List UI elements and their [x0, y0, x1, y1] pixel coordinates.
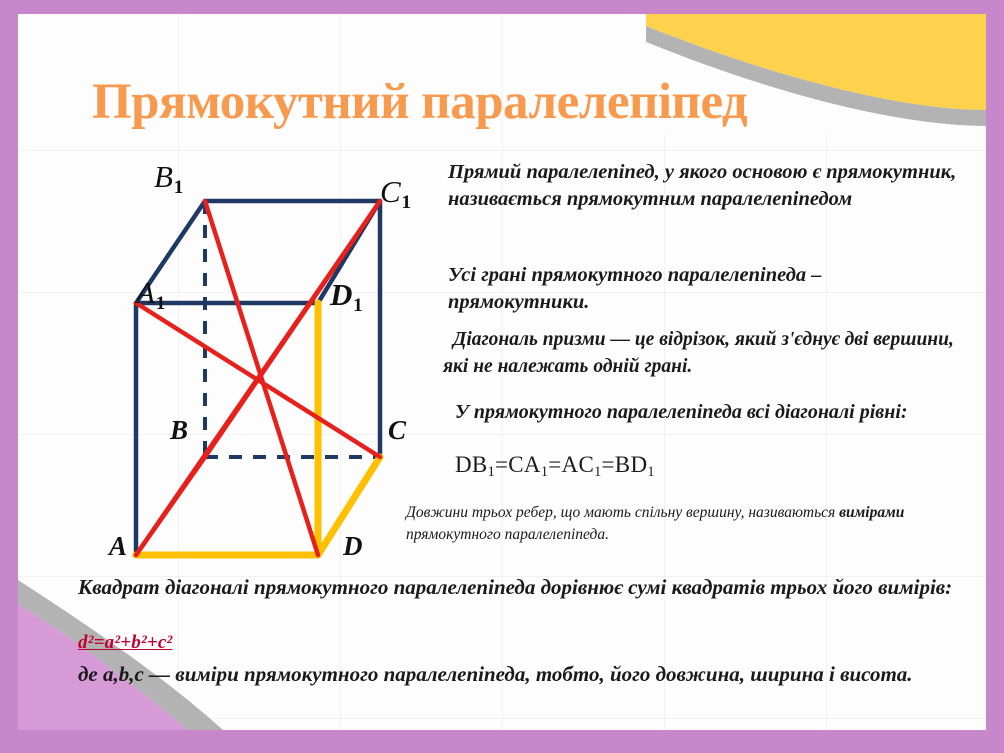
formula-diagonal-squared: d²=a²+b²+c² [78, 632, 172, 654]
vertex-label-D: D [343, 533, 363, 560]
page-title: Прямокутний паралелепіпед [92, 76, 952, 130]
vertex-label-B: B [170, 417, 188, 444]
vertex-label-D1: D1 [330, 279, 362, 310]
paragraph-definition: Прямий паралелепіпед, у якого основою є … [448, 159, 958, 214]
vertex-label-C: C [388, 417, 406, 444]
vertex-label-A: A [109, 533, 127, 560]
vertex-label-B1: B1 [154, 161, 183, 192]
slide-root: Прямокутний паралелепіпед [0, 0, 1004, 753]
paragraph-edges-note: Довжини трьох ребер, що мають спільну ве… [406, 502, 966, 546]
paragraph-faces: Усі грані прямокутного паралелепіпеда – … [448, 262, 958, 317]
diagonal-A-B-segment [136, 457, 205, 555]
edges-note-pre: Довжини трьох ребер, що мають спільну ве… [406, 504, 839, 521]
slide-canvas: Прямокутний паралелепіпед [18, 14, 986, 730]
paragraph-diagonal-definition: Діагональ призми — це відрізок, який з'є… [443, 327, 963, 380]
paragraph-where-clause: де a,b,c — виміри прямокутного паралелеп… [78, 659, 958, 689]
parallelepiped-svg [58, 149, 458, 579]
vertex-label-A1: A1 [136, 277, 165, 308]
equation-equal-diagonals: DB1=CA1=AC1=BD1 [455, 452, 655, 478]
edges-note-post: прямокутного паралелепіпеда. [406, 526, 609, 543]
paragraph-square-rule: Квадрат діагоналі прямокутного паралелеп… [78, 572, 958, 602]
paragraph-equal-diagonals: У прямокутного паралелепіпеда всі діагон… [455, 399, 955, 426]
vertex-label-C1: C1 [380, 176, 410, 207]
edges-note-emphasis: вимірами [839, 504, 904, 521]
figure-container: A1 B1 C1 D1 A B C D [58, 149, 458, 579]
